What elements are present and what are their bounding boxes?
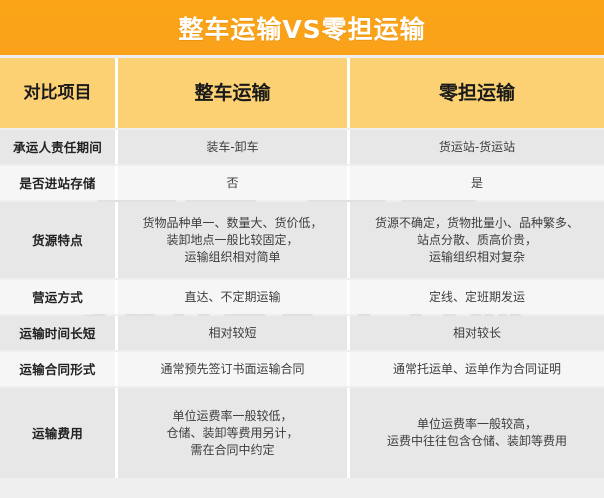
header-cell-truckload: 整车运输 xyxy=(118,58,347,128)
text-line: 货物品种单一、数量大、货价低， xyxy=(142,215,322,232)
table-row: 运输合同形式通常预先签订书面运输合同通常托运单、运单作为合同证明 xyxy=(0,352,604,386)
row-truckload-4: 相对较短 xyxy=(118,316,347,350)
text-line: 货源不确定，货物批量小、品种繁多、 xyxy=(375,215,579,232)
page-title: 整车运输VS零担运输 xyxy=(178,10,425,46)
text-line: 需在合同中约定 xyxy=(166,442,298,459)
text-line: 否 xyxy=(226,175,238,192)
row-truckload-2-lines: 货物品种单一、数量大、货价低，装卸地点一般比较固定，运输组织相对简单 xyxy=(142,215,322,266)
text-line: 货运站-货运站 xyxy=(439,139,515,156)
row-ltl-3-lines: 定线、定班期发运 xyxy=(429,289,525,306)
row-truckload-3-lines: 直达、不定期运输 xyxy=(184,289,280,306)
row-truckload-0-lines: 装车-卸车 xyxy=(206,139,258,156)
row-truckload-5: 通常预先签订书面运输合同 xyxy=(118,352,347,386)
row-ltl-1: 是 xyxy=(350,166,604,200)
table-row: 营运方式直达、不定期运输定线、定班期发运 xyxy=(0,280,604,314)
row-truckload-6-lines: 单位运费率一般较低，仓储、装卸等费用另计，需在合同中约定 xyxy=(166,408,298,459)
row-ltl-0-lines: 货运站-货运站 xyxy=(439,139,515,156)
text-line: 通常托运单、运单作为合同证明 xyxy=(393,361,561,378)
text-line: 站点分散、质高价贵， xyxy=(375,232,579,249)
table-row: 运输费用单位运费率一般较低，仓储、装卸等费用另计，需在合同中约定单位运费率一般较… xyxy=(0,388,604,478)
row-ltl-4-lines: 相对较长 xyxy=(453,325,501,342)
row-label-0: 承运人责任期间 xyxy=(0,130,115,164)
row-label-3: 营运方式 xyxy=(0,280,115,314)
row-truckload-5-lines: 通常预先签订书面运输合同 xyxy=(160,361,304,378)
text-line: 相对较短 xyxy=(208,325,256,342)
bottom-spacer xyxy=(0,478,604,484)
text-line: 单位运费率一般较低， xyxy=(166,408,298,425)
table-header-row: 对比项目 整车运输 零担运输 xyxy=(0,58,604,128)
row-truckload-2: 货物品种单一、数量大、货价低，装卸地点一般比较固定，运输组织相对简单 xyxy=(118,202,347,278)
row-truckload-1: 否 xyxy=(118,166,347,200)
infographic-root: 360HE.COM 整车运输VS零担运输 对比项目 整车运输 零担运输 承运人责… xyxy=(0,0,604,498)
text-line: 装车-卸车 xyxy=(206,139,258,156)
text-line: 定线、定班期发运 xyxy=(429,289,525,306)
header-cell-ltl: 零担运输 xyxy=(350,58,604,128)
text-line: 运输组织相对简单 xyxy=(142,249,322,266)
row-ltl-4: 相对较长 xyxy=(350,316,604,350)
row-ltl-1-lines: 是 xyxy=(471,175,483,192)
row-ltl-5-lines: 通常托运单、运单作为合同证明 xyxy=(393,361,561,378)
row-ltl-5: 通常托运单、运单作为合同证明 xyxy=(350,352,604,386)
row-truckload-6: 单位运费率一般较低，仓储、装卸等费用另计，需在合同中约定 xyxy=(118,388,347,478)
row-truckload-0: 装车-卸车 xyxy=(118,130,347,164)
row-truckload-4-lines: 相对较短 xyxy=(208,325,256,342)
text-line: 是 xyxy=(471,175,483,192)
comparison-table: 对比项目 整车运输 零担运输 承运人责任期间装车-卸车货运站-货运站是否进站存储… xyxy=(0,58,604,478)
text-line: 运输组织相对复杂 xyxy=(375,249,579,266)
text-line: 直达、不定期运输 xyxy=(184,289,280,306)
row-truckload-1-lines: 否 xyxy=(226,175,238,192)
row-ltl-2-lines: 货源不确定，货物批量小、品种繁多、站点分散、质高价贵，运输组织相对复杂 xyxy=(375,215,579,266)
row-truckload-3: 直达、不定期运输 xyxy=(118,280,347,314)
table-row: 承运人责任期间装车-卸车货运站-货运站 xyxy=(0,130,604,164)
row-ltl-2: 货源不确定，货物批量小、品种繁多、站点分散、质高价贵，运输组织相对复杂 xyxy=(350,202,604,278)
row-label-6: 运输费用 xyxy=(0,388,115,478)
row-label-2: 货源特点 xyxy=(0,202,115,278)
row-label-4: 运输时间长短 xyxy=(0,316,115,350)
text-line: 运费中往往包含仓储、装卸等费用 xyxy=(387,433,567,450)
text-line: 装卸地点一般比较固定， xyxy=(142,232,322,249)
table-row: 运输时间长短相对较短相对较长 xyxy=(0,316,604,350)
row-label-1: 是否进站存储 xyxy=(0,166,115,200)
text-line: 相对较长 xyxy=(453,325,501,342)
banner: 整车运输VS零担运输 xyxy=(0,0,604,55)
table-row: 是否进站存储否是 xyxy=(0,166,604,200)
text-line: 仓储、装卸等费用另计， xyxy=(166,425,298,442)
row-ltl-0: 货运站-货运站 xyxy=(350,130,604,164)
text-line: 通常预先签订书面运输合同 xyxy=(160,361,304,378)
row-ltl-3: 定线、定班期发运 xyxy=(350,280,604,314)
header-cell-item: 对比项目 xyxy=(0,58,115,128)
text-line: 单位运费率一般较高， xyxy=(387,416,567,433)
table-body: 承运人责任期间装车-卸车货运站-货运站是否进站存储否是货源特点货物品种单一、数量… xyxy=(0,130,604,478)
row-label-5: 运输合同形式 xyxy=(0,352,115,386)
row-ltl-6-lines: 单位运费率一般较高，运费中往往包含仓储、装卸等费用 xyxy=(387,416,567,450)
row-ltl-6: 单位运费率一般较高，运费中往往包含仓储、装卸等费用 xyxy=(350,388,604,478)
table-row: 货源特点货物品种单一、数量大、货价低，装卸地点一般比较固定，运输组织相对简单货源… xyxy=(0,202,604,278)
